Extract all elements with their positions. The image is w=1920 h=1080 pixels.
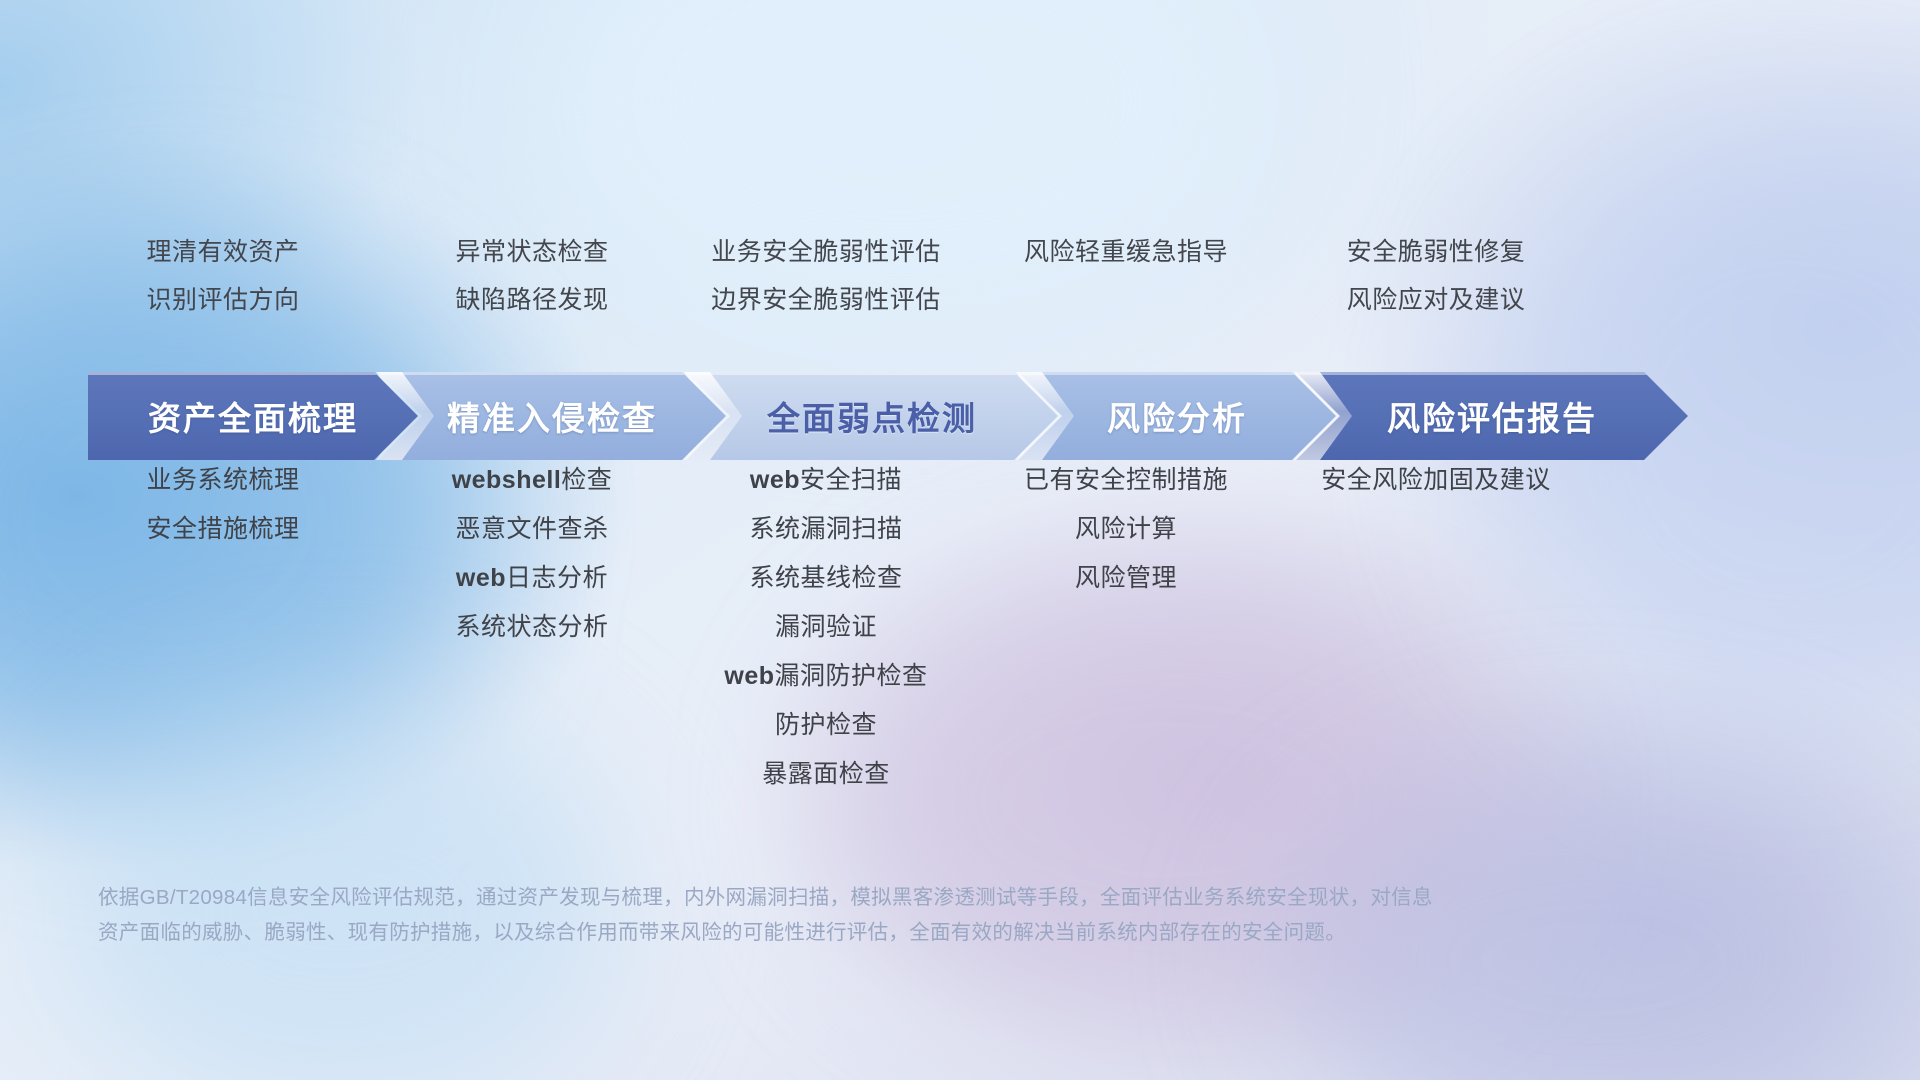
detail-list-asset-inventory: 业务系统梳理安全措施梳理 (58, 456, 388, 799)
detail-list-item: 系统漏洞扫描 (676, 505, 976, 554)
top-annotations-intrusion-check: 异常状态检查缺陷路径发现 (388, 228, 676, 324)
chevron-label: 精准入侵检查 (447, 392, 657, 440)
detail-list-item: web日志分析 (388, 554, 676, 603)
detail-list-item: 风险管理 (976, 554, 1276, 603)
detail-list-weakness-detection: web安全扫描系统漏洞扫描系统基线检查漏洞验证web漏洞防护检查防护检查暴露面检… (676, 456, 976, 799)
detail-list-item: 防护检查 (676, 701, 976, 750)
detail-list-item: 安全风险加固及建议 (1276, 456, 1596, 505)
footer-line: 依据GB/T20984信息安全风险评估规范，通过资产发现与梳理，内外网漏洞扫描，… (98, 880, 1638, 915)
top-annotations-risk-report: 安全脆弱性修复风险应对及建议 (1276, 228, 1596, 324)
chevron-stage-risk-analysis[interactable]: 风险分析 (1018, 372, 1336, 460)
top-annotation-item: 异常状态检查 (388, 228, 676, 276)
detail-list-item: 漏洞验证 (676, 603, 976, 652)
top-annotation-item: 理清有效资产 (58, 228, 388, 276)
chevron-stage-intrusion-check[interactable]: 精准入侵检查 (378, 372, 726, 460)
top-annotations-asset-inventory: 理清有效资产识别评估方向 (58, 228, 388, 324)
detail-list-risk-report: 安全风险加固及建议 (1276, 456, 1596, 799)
chevron-label: 风险评估报告 (1387, 392, 1597, 440)
footer-description: 依据GB/T20984信息安全风险评估规范，通过资产发现与梳理，内外网漏洞扫描，… (98, 880, 1638, 950)
top-annotation-item: 风险应对及建议 (1276, 276, 1596, 324)
chevron-stage-asset-inventory[interactable]: 资产全面梳理 (88, 372, 418, 460)
diagram-content: 理清有效资产识别评估方向异常状态检查缺陷路径发现业务安全脆弱性评估边界安全脆弱性… (0, 0, 1920, 1080)
chevron-stage-risk-report[interactable]: 风险评估报告 (1296, 372, 1688, 460)
top-annotations-weakness-detection: 业务安全脆弱性评估边界安全脆弱性评估 (676, 228, 976, 324)
top-annotation-item: 识别评估方向 (58, 276, 388, 324)
chevron-label: 风险分析 (1107, 392, 1247, 440)
detail-list-item: 恶意文件查杀 (388, 505, 676, 554)
chevron-label: 全面弱点检测 (767, 392, 977, 440)
detail-list-intrusion-check: webshell检查恶意文件查杀web日志分析系统状态分析 (388, 456, 676, 799)
detail-list-item: 安全措施梳理 (58, 505, 388, 554)
detail-list-item: 风险计算 (976, 505, 1276, 554)
detail-list-item: 暴露面检查 (676, 750, 976, 799)
chevron-label: 资产全面梳理 (148, 392, 358, 440)
top-annotation-item: 业务安全脆弱性评估 (676, 228, 976, 276)
detail-list-item: 系统状态分析 (388, 603, 676, 652)
detail-list-item: 系统基线检查 (676, 554, 976, 603)
top-annotation-item: 边界安全脆弱性评估 (676, 276, 976, 324)
detail-list-item: web安全扫描 (676, 456, 976, 505)
footer-line: 资产面临的威胁、脆弱性、现有防护措施，以及综合作用而带来风险的可能性进行评估，全… (98, 915, 1638, 950)
top-annotation-item: 安全脆弱性修复 (1276, 228, 1596, 276)
top-annotations-row: 理清有效资产识别评估方向异常状态检查缺陷路径发现业务安全脆弱性评估边界安全脆弱性… (0, 228, 1920, 324)
detail-list-item: 已有安全控制措施 (976, 456, 1276, 505)
top-annotation-item: 风险轻重缓急指导 (976, 228, 1276, 276)
detail-list-risk-analysis: 已有安全控制措施风险计算风险管理 (976, 456, 1276, 799)
detail-list-item: webshell检查 (388, 456, 676, 505)
top-annotation-item: 缺陷路径发现 (388, 276, 676, 324)
chevron-stage-weakness-detection[interactable]: 全面弱点检测 (686, 372, 1058, 460)
detail-list-item: web漏洞防护检查 (676, 652, 976, 701)
bottom-details-row: 业务系统梳理安全措施梳理webshell检查恶意文件查杀web日志分析系统状态分… (0, 456, 1920, 799)
top-annotations-risk-analysis: 风险轻重缓急指导 (976, 228, 1276, 324)
detail-list-item: 业务系统梳理 (58, 456, 388, 505)
process-chevron-band: 资产全面梳理精准入侵检查全面弱点检测风险分析风险评估报告 (88, 372, 1848, 460)
slide-canvas: 理清有效资产识别评估方向异常状态检查缺陷路径发现业务安全脆弱性评估边界安全脆弱性… (0, 0, 1920, 1080)
